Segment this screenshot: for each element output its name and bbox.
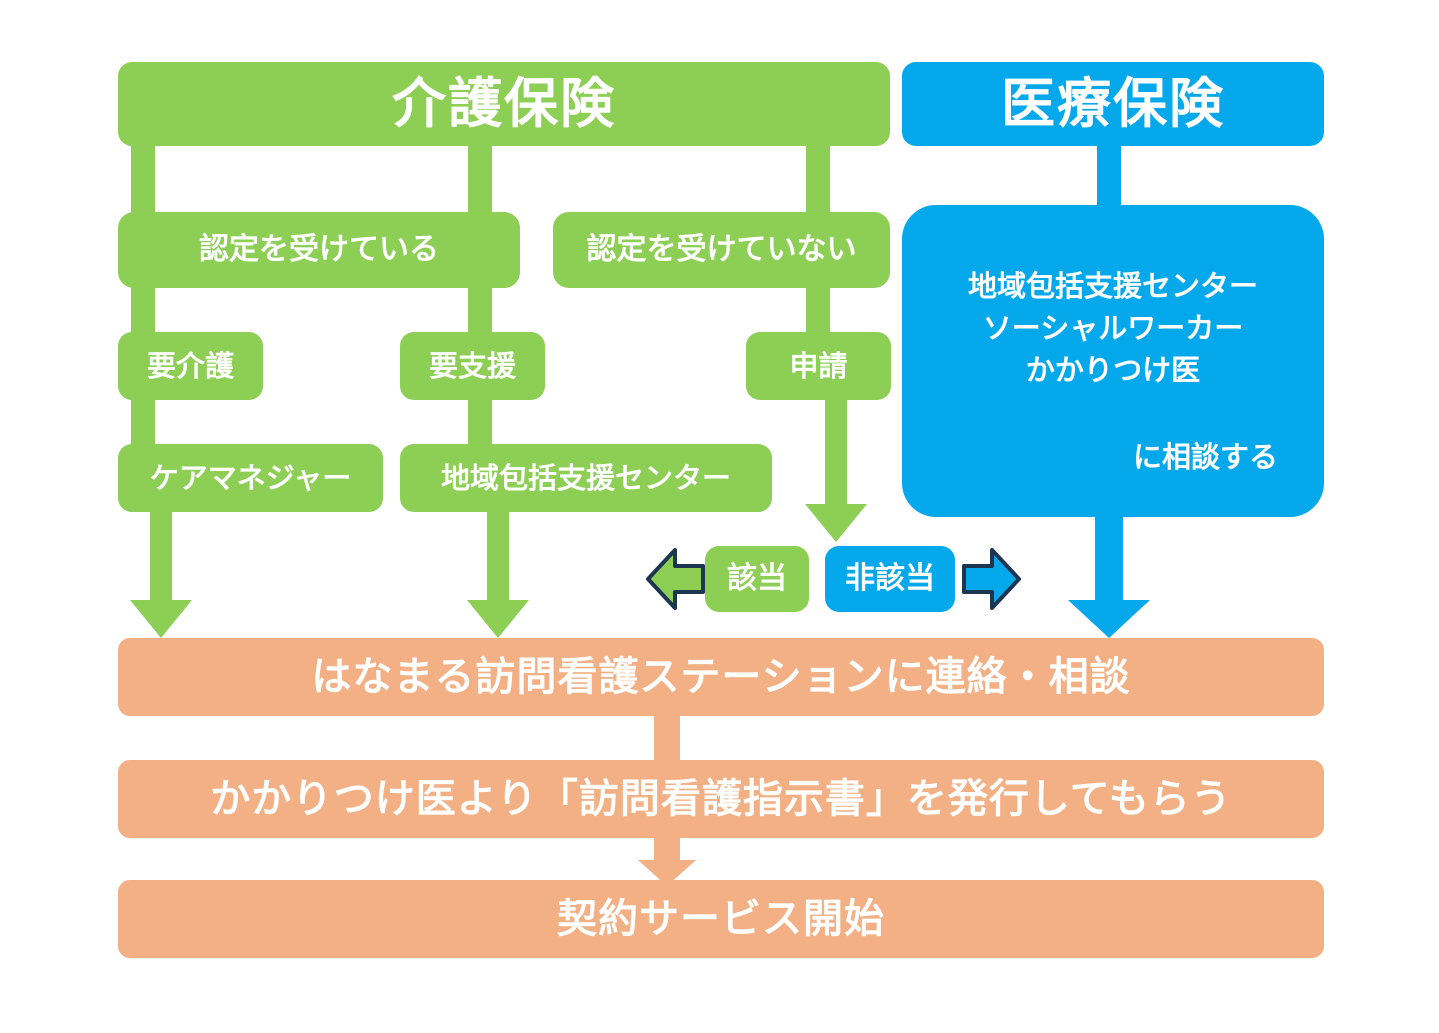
right-arrow-icon bbox=[960, 548, 1022, 610]
consult-target-list: 地域包括支援センター ソーシャルワーカー かかりつけ医 bbox=[938, 265, 1288, 391]
node-community-support-center[interactable]: 地域包括支援センター bbox=[400, 444, 772, 512]
step-bar-service-start-label: 契約サービス開始 bbox=[557, 894, 885, 944]
badge-not-eligible[interactable]: 非該当 bbox=[825, 546, 955, 612]
step-bar-get-instruction-letter[interactable]: かかりつけ医より「訪問看護指示書」を発行してもらう bbox=[118, 760, 1324, 838]
step-bar-contact-station[interactable]: はなまる訪問看護ステーションに連絡・相談 bbox=[118, 638, 1324, 716]
arrow-caremanager-to-step1 bbox=[126, 500, 196, 640]
step-bar-contact-station-label: はなまる訪問看護ステーションに連絡・相談 bbox=[311, 652, 1130, 702]
arrow-shinsei-to-decision bbox=[801, 396, 871, 544]
node-care-manager-label: ケアマネジャー bbox=[150, 460, 352, 496]
connector-shien-to-center bbox=[468, 396, 492, 448]
panel-consult-targets[interactable]: 地域包括支援センター ソーシャルワーカー かかりつけ医 に相談する bbox=[902, 205, 1324, 517]
header-medical-insurance[interactable]: 医療保険 bbox=[902, 62, 1324, 146]
badge-not-eligible-label: 非該当 bbox=[845, 560, 935, 598]
node-application[interactable]: 申請 bbox=[746, 332, 891, 400]
header-care-insurance-label: 介護保険 bbox=[392, 70, 616, 138]
consult-target-1: ソーシャルワーカー bbox=[938, 307, 1288, 349]
node-community-support-center-label: 地域包括支援センター bbox=[441, 460, 731, 496]
badge-eligible[interactable]: 該当 bbox=[705, 546, 809, 612]
consult-target-0: 地域包括支援センター bbox=[938, 265, 1288, 307]
step-bar-service-start[interactable]: 契約サービス開始 bbox=[118, 880, 1324, 958]
left-arrow-icon bbox=[645, 548, 707, 610]
node-care-manager[interactable]: ケアマネジャー bbox=[118, 444, 383, 512]
node-application-label: 申請 bbox=[789, 348, 847, 384]
node-not-certified[interactable]: 認定を受けていない bbox=[553, 212, 890, 288]
connector-step1-to-step2 bbox=[654, 714, 680, 766]
node-care-level-yokaigo[interactable]: 要介護 bbox=[118, 332, 263, 400]
node-care-level-yokaigo-label: 要介護 bbox=[147, 348, 234, 384]
node-care-level-yoshien[interactable]: 要支援 bbox=[400, 332, 545, 400]
arrow-center-to-step1 bbox=[463, 500, 533, 640]
arrow-panel-to-step1 bbox=[1062, 500, 1156, 640]
consult-target-2: かかりつけ医 bbox=[938, 349, 1288, 391]
node-certified[interactable]: 認定を受けている bbox=[118, 212, 520, 288]
node-certified-label: 認定を受けている bbox=[199, 231, 439, 269]
node-care-level-yoshien-label: 要支援 bbox=[429, 348, 516, 384]
step-bar-get-instruction-letter-label: かかりつけ医より「訪問看護指示書」を発行してもらう bbox=[210, 774, 1231, 824]
flowchart-canvas: 介護保険 医療保険 認定を受けている 認定を受けていない 要介護 要支援 申請 … bbox=[0, 0, 1439, 1033]
node-not-certified-label: 認定を受けていない bbox=[587, 231, 857, 269]
connector-kaigo-to-caremanager bbox=[131, 396, 155, 448]
header-medical-insurance-label: 医療保険 bbox=[1001, 70, 1225, 138]
consult-suffix: に相談する bbox=[938, 439, 1288, 475]
header-care-insurance[interactable]: 介護保険 bbox=[118, 62, 890, 146]
badge-eligible-label: 該当 bbox=[727, 560, 787, 598]
